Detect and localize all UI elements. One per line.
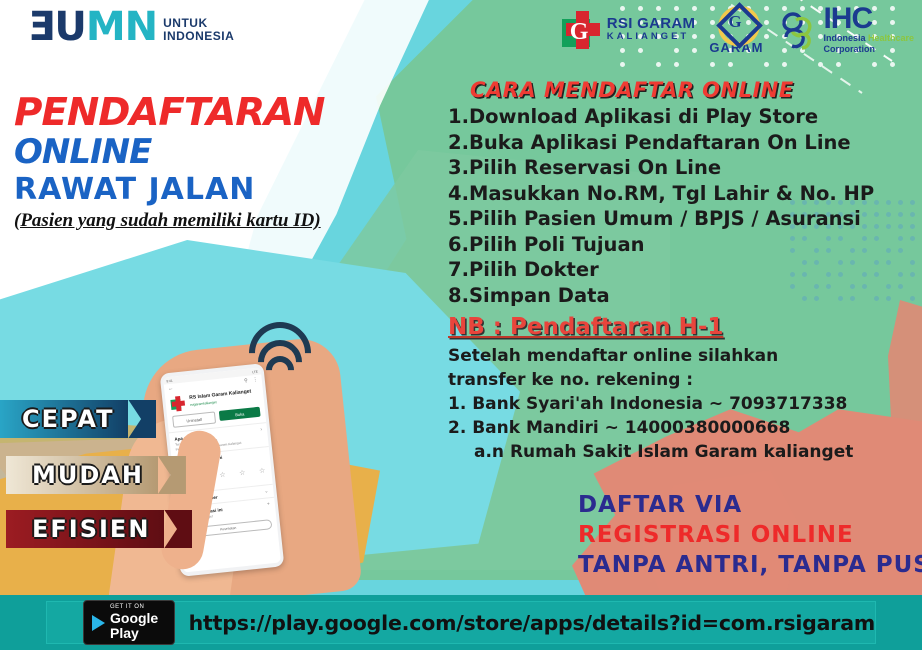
google-play-icon — [92, 615, 105, 631]
ihc-logo: IHC Indonesia Healthcare Corporation — [777, 5, 914, 55]
nb-line: 2. Bank Mandiri ~ 14000380000668 — [448, 416, 918, 440]
nb-account-name: a.n Rumah Sakit Islam Garam kalianget — [448, 440, 918, 464]
play-store-url[interactable]: https://play.google.com/store/apps/detai… — [189, 611, 875, 635]
ribbon-efisien-label: EFISIEN — [32, 515, 150, 543]
tagline-line2: REGISTRASI ONLINE — [578, 520, 922, 550]
ihc-subtitle-line2: Corporation — [823, 44, 914, 55]
ribbon-mudah-label: MUDAH — [32, 461, 144, 489]
bumn-letter-m: M — [86, 4, 125, 50]
rsi-garam-line2: KALIANGET — [607, 31, 696, 43]
ihc-leaf-icon — [777, 9, 819, 51]
ribbon-efisien: EFISIEN — [6, 510, 192, 548]
headline-block: PENDAFTARAN ONLINE RAWAT JALAN (Pasien y… — [14, 92, 374, 234]
ihc-subtitle-a: Indonesia — [823, 33, 868, 43]
bumn-letter-b: Ǝ — [28, 4, 54, 50]
garam-mark-letter: G — [728, 12, 741, 32]
google-play-badge[interactable]: GET IT ON Google Play — [83, 600, 175, 645]
rsi-mark-letter: G — [570, 19, 589, 46]
instructions-list: 1.Download Aplikasi di Play Store2.Buka … — [448, 104, 918, 308]
instruction-step: 8.Simpan Data — [448, 283, 918, 309]
ribbon-cepat-label: CEPAT — [22, 405, 114, 433]
instruction-step: 1.Download Aplikasi di Play Store — [448, 104, 918, 130]
bumn-tagline-line2: INDONESIA — [163, 30, 234, 43]
ihc-acronym: IHC — [823, 5, 914, 33]
headline-rawat-jalan: RAWAT JALAN — [14, 172, 374, 208]
nb-line: 1. Bank Syari'ah Indonesia ~ 7093717338 — [448, 392, 918, 416]
nb-line: Setelah mendaftar online silahkan — [448, 344, 918, 368]
app-icon — [170, 395, 186, 411]
instructions-title: CARA MENDAFTAR ONLINE — [470, 78, 918, 102]
chevron-right-icon[interactable]: › — [260, 427, 262, 433]
instruction-step: 5.Pilih Pasien Umum / BPJS / Asuransi — [448, 206, 918, 232]
ribbon-cepat: CEPAT — [0, 400, 156, 438]
rsi-garam-text: RSI GARAM KALIANGET — [607, 16, 696, 43]
ihc-subtitle-line1: Indonesia Healthcare — [823, 33, 914, 44]
ribbon-mudah-tail — [158, 456, 186, 494]
instruction-step: 4.Masukkan No.RM, Tgl Lahir & No. HP — [448, 181, 918, 207]
bumn-letter-u: U — [54, 4, 85, 50]
bumn-tagline: UNTUK INDONESIA — [163, 11, 234, 43]
ribbon-cepat-tail — [128, 400, 156, 438]
garam-diamond-icon: G — [716, 4, 756, 42]
bumn-logo: ƎUMN UNTUK INDONESIA — [28, 8, 234, 46]
footer-inner: GET IT ON Google Play https://play.googl… — [46, 601, 876, 644]
nb-line: transfer ke no. rekening : — [448, 368, 918, 392]
partner-logos: G RSI GARAM KALIANGET G GARAM — [562, 4, 914, 55]
google-play-line2: Google Play — [110, 611, 166, 641]
phone-status-time: 9:41 — [166, 378, 173, 383]
instruction-step: 3.Pilih Reservasi On Line — [448, 155, 918, 181]
ribbon-mudah: MUDAH — [6, 456, 186, 494]
back-arrow-icon[interactable]: ← — [168, 385, 174, 391]
headline-note: (Pasien yang sudah memiliki kartu ID) — [14, 208, 374, 234]
poster-root: ƎUMN UNTUK INDONESIA G RSI GARAM KALIANG… — [0, 0, 922, 650]
uninstall-button[interactable]: Uninstall — [172, 411, 216, 427]
instruction-step: 6.Pilih Poli Tujuan — [448, 232, 918, 258]
tagline-block: DAFTAR VIA REGISTRASI ONLINE TANPA ANTRI… — [578, 490, 922, 580]
star-icon-4[interactable]: ☆ — [239, 469, 246, 478]
medical-cross-icon: G — [562, 11, 602, 49]
instruction-step: 2.Buka Aplikasi Pendaftaran On Line — [448, 130, 918, 156]
tagline-line1: DAFTAR VIA — [578, 490, 922, 520]
open-button[interactable]: Buka — [219, 407, 261, 421]
footer-bar: GET IT ON Google Play https://play.googl… — [0, 595, 922, 650]
nb-body: Setelah mendaftar online silahkantransfe… — [448, 344, 918, 464]
star-icon-5[interactable]: ☆ — [259, 467, 266, 476]
rsi-garam-logo: G RSI GARAM KALIANGET — [562, 11, 696, 49]
garam-logo: G GARAM — [709, 4, 763, 55]
ihc-subtitle-b: Healthcare — [868, 33, 914, 43]
plus-icon[interactable]: + — [267, 501, 271, 507]
bumn-wordmark: ƎUMN — [28, 8, 157, 46]
nb-title: NB : Pendaftaran H-1 — [448, 314, 723, 340]
instructions-block: CARA MENDAFTAR ONLINE 1.Download Aplikas… — [448, 78, 918, 464]
rsi-garam-line1: RSI GARAM — [607, 16, 696, 31]
ihc-text: IHC Indonesia Healthcare Corporation — [823, 5, 914, 55]
instruction-step: 7.Pilih Dokter — [448, 257, 918, 283]
chevron-down-icon[interactable]: ⌄ — [264, 488, 269, 494]
headline-online: ONLINE — [14, 132, 374, 172]
ribbon-efisien-tail — [164, 510, 192, 548]
headline-pendaftaran: PENDAFTARAN — [14, 92, 381, 132]
wifi-icon — [243, 332, 305, 384]
tagline-line3: TANPA ANTRI, TANPA PUSING — [578, 550, 922, 580]
star-icon-3[interactable]: ☆ — [219, 471, 226, 480]
bumn-letter-n: N — [125, 4, 157, 50]
